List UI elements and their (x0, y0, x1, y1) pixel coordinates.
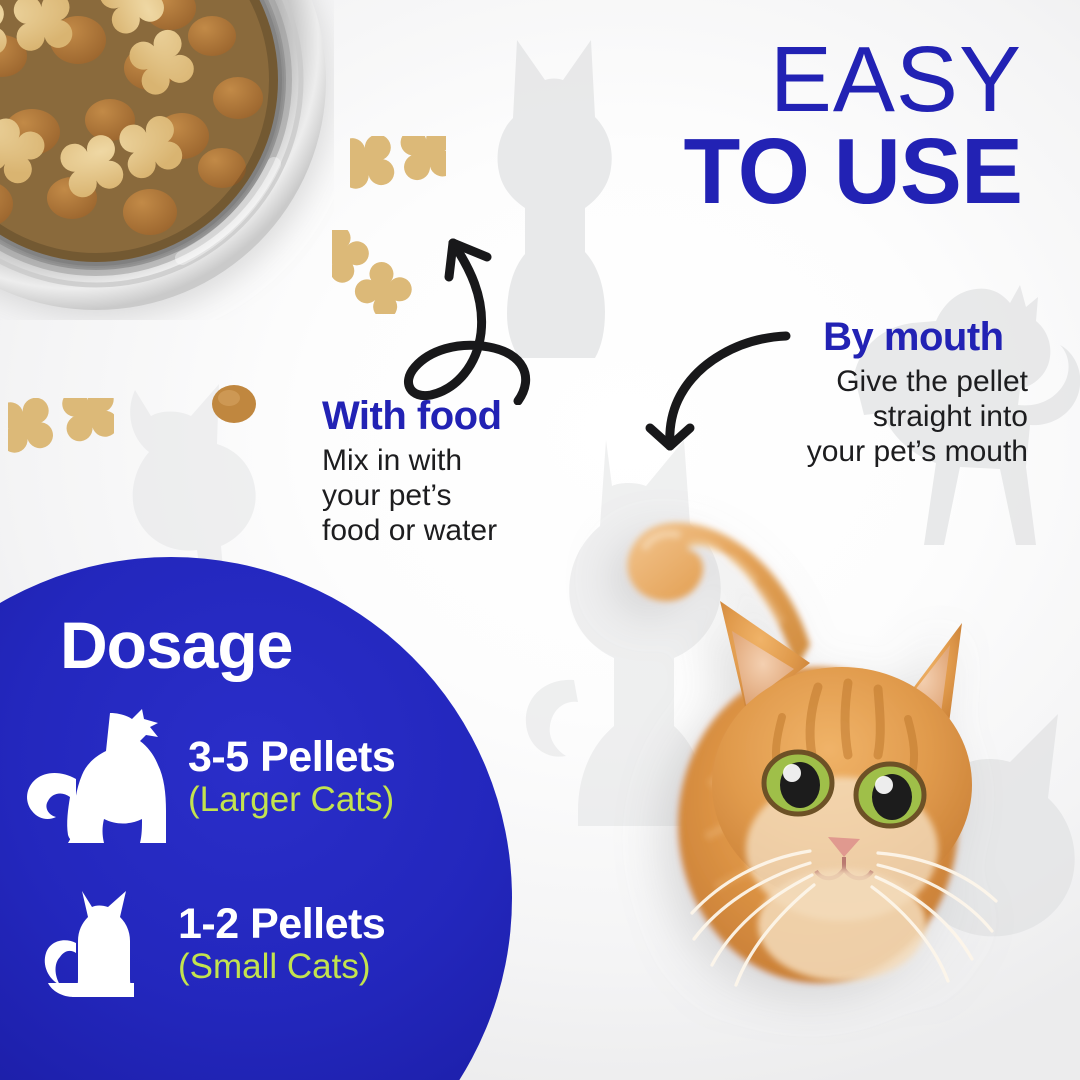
dosage-text-large-cats: 3-5 Pellets (Larger Cats) (188, 734, 395, 820)
callout-by-mouth-body: Give the pellet straight into your pet’s… (807, 364, 1028, 469)
scattered-kibble-bone-3 (8, 398, 114, 462)
dosage-amount-small-cats: 1-2 Pellets (178, 901, 385, 947)
dosage-note-small-cats: (Small Cats) (178, 948, 385, 987)
sitting-cat-icon (18, 707, 166, 847)
small-sitting-cat-icon (38, 887, 156, 1001)
callout-by-mouth-line-2: straight into (807, 399, 1028, 434)
scattered-kibble-round (210, 382, 258, 426)
curved-arrow-down-left-icon (638, 318, 813, 468)
dosage-title: Dosage (60, 612, 292, 678)
dosage-panel: Dosage 3-5 Pellets (Larger Cats) (0, 557, 512, 1080)
callout-by-mouth-title: By mouth (807, 316, 1028, 358)
dosage-row-large-cats: 3-5 Pellets (Larger Cats) (18, 707, 395, 847)
scattered-kibble-bone-1 (350, 136, 446, 196)
callout-with-food-line-3: food or water (322, 513, 502, 548)
dosage-text-small-cats: 1-2 Pellets (Small Cats) (178, 901, 385, 987)
callout-by-mouth: By mouth Give the pellet straight into y… (807, 316, 1028, 469)
callout-with-food-line-2: your pet’s (322, 478, 502, 513)
callout-with-food: With food Mix in with your pet’s food or… (322, 395, 502, 548)
dosage-row-small-cats: 1-2 Pellets (Small Cats) (38, 887, 385, 1001)
watermark-cat-sitting-left (455, 32, 655, 362)
headline-line-1: EASY (683, 34, 1022, 124)
callout-with-food-line-1: Mix in with (322, 443, 502, 478)
callout-by-mouth-line-1: Give the pellet (807, 364, 1028, 399)
callout-with-food-body: Mix in with your pet’s food or water (322, 443, 502, 548)
headline-line-2: TO USE (683, 126, 1022, 216)
infographic-canvas: EASY TO USE With food Mix in with your p… (0, 0, 1080, 1080)
scattered-kibble-bone-2 (332, 230, 428, 314)
dosage-note-large-cats: (Larger Cats) (188, 781, 395, 820)
dog-food-bowl-image (0, 0, 334, 320)
dosage-amount-large-cats: 3-5 Pellets (188, 734, 395, 780)
callout-with-food-title: With food (322, 395, 502, 437)
orange-tabby-cat-photo (560, 455, 1080, 1080)
headline: EASY TO USE (683, 34, 1022, 216)
